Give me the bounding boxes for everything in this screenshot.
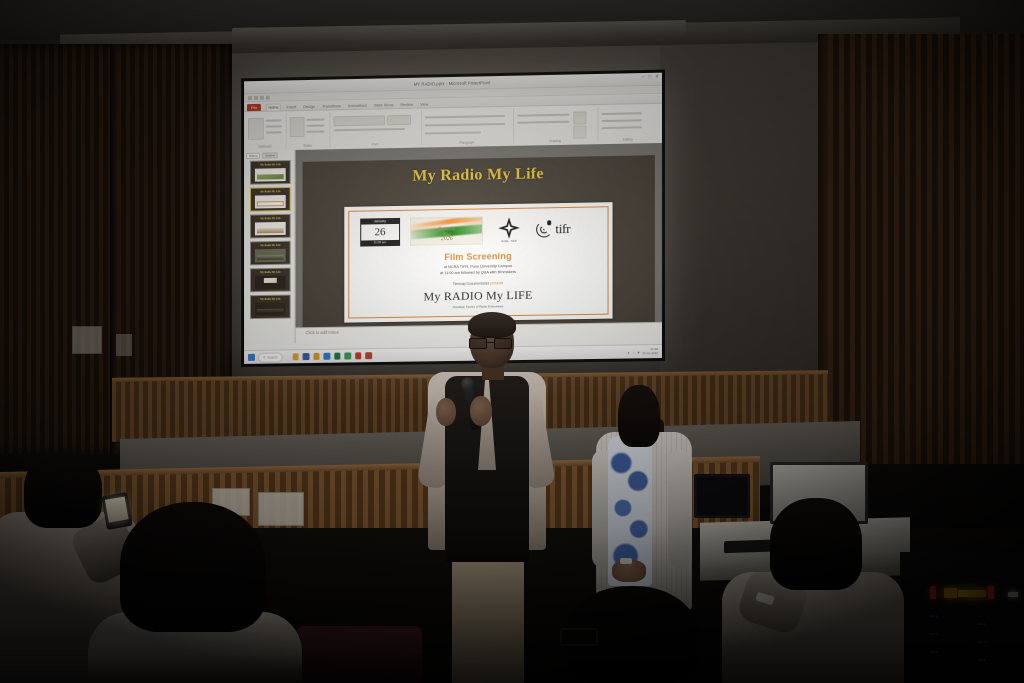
poster-headline: Film Screening (350, 250, 607, 264)
chrome-icon[interactable] (344, 353, 350, 360)
thumbnail-slide-1[interactable]: 1 My Radio My Life (250, 160, 291, 185)
reset-button[interactable] (307, 125, 325, 127)
ribbon-group-font[interactable]: Font (329, 111, 422, 148)
republic-day-year: 2026 (411, 235, 482, 242)
tab-slides[interactable]: Slides (246, 153, 260, 159)
thumbnail-image (257, 201, 284, 206)
mixer-led-amber-1 (944, 588, 957, 598)
eyeglass-lens-right (494, 338, 512, 349)
group-label-font: Font (329, 142, 421, 148)
mixer-channel-label-5: CH 5 (978, 640, 986, 644)
clock-date: 26-01-2026 (642, 351, 657, 355)
layout-button[interactable] (307, 119, 325, 121)
font-size-select[interactable] (387, 115, 411, 125)
shape-outline-button[interactable] (573, 125, 586, 138)
co-presenter-wristwatch (620, 558, 632, 564)
ribbon-group-paragraph[interactable]: Paragraph (421, 109, 514, 146)
star-icon (498, 217, 520, 239)
font-style-buttons[interactable] (333, 128, 405, 131)
close-icon[interactable]: ✕ (655, 75, 659, 80)
start-button-icon[interactable] (248, 354, 255, 361)
presents-word: presents (490, 281, 503, 285)
ribbon-group-editing[interactable]: Editing (597, 106, 657, 142)
date-badge: January 26 11:00 am (360, 218, 400, 247)
media-icon[interactable] (313, 353, 319, 360)
phone-screen (105, 496, 129, 522)
audience-right-head (770, 498, 862, 590)
arrange-button[interactable] (517, 121, 569, 124)
presenter-left-hand (436, 398, 456, 426)
thumbnail-image (257, 309, 284, 314)
audience-center-eyeglasses (560, 628, 598, 646)
group-label-paragraph: Paragraph (421, 140, 513, 146)
auditorium-photo: MY RADIO.pptx - Microsoft PowerPoint – □… (0, 0, 1024, 683)
align-buttons[interactable] (425, 123, 505, 126)
star-inner-icon (504, 223, 514, 234)
ribbon-group-drawing[interactable]: Drawing (513, 107, 598, 144)
thumbnail-title: My Radio My Life (251, 163, 290, 167)
search-placeholder: Search (267, 355, 277, 359)
tifr-arc-icon (535, 220, 554, 239)
minimize-icon[interactable]: – (642, 75, 645, 80)
date-badge-day: 26 (361, 224, 399, 241)
copy-button[interactable] (266, 125, 282, 127)
thumbnail-image (264, 278, 276, 283)
wall-switch-plate (72, 326, 102, 354)
tab-transitions[interactable]: Transitions (321, 103, 342, 109)
poster-time-line: at 11:00 am followed by Q&A with filmmak… (350, 269, 607, 277)
mixer-channel-label-3: CH 3 (930, 650, 938, 654)
thumbnail-title: My Radio My Life (251, 189, 290, 193)
stage-wall-plate-2 (258, 492, 304, 526)
thumbnail-pane-tabs[interactable]: Slides Outline (246, 152, 293, 159)
mixer-led-red-1 (930, 586, 936, 599)
maximize-icon[interactable]: □ (648, 75, 651, 80)
producer-name: Timecap Documentaries (453, 281, 490, 286)
thumbnail-image (257, 255, 284, 260)
current-slide[interactable]: My Radio My Life January 26 11:00 am (303, 155, 655, 332)
powerpoint-window[interactable]: MY RADIO.pptx - Microsoft PowerPoint – □… (244, 73, 662, 364)
audience-phone-head (24, 452, 102, 528)
taskbar-clock[interactable]: 12:08 26-01-2026 (642, 348, 657, 356)
ribbon-group-clipboard[interactable]: Clipboard (244, 113, 287, 149)
customize-qat-icon[interactable] (266, 95, 270, 99)
mobile-phone (101, 492, 133, 530)
volume-icon[interactable]: ♪ (633, 350, 635, 354)
font-family-select[interactable] (333, 115, 385, 126)
thumbnail-canvas (255, 303, 286, 316)
redo-icon[interactable] (260, 95, 264, 99)
republic-day-line1: Republic (438, 227, 456, 232)
tab-slide-show[interactable]: Slide Show (373, 102, 394, 108)
search-icon: ⚲ (263, 355, 265, 359)
tifr-wordmark: tifr (555, 222, 570, 235)
preview-monitor-screen (697, 477, 747, 515)
slide-title: My Radio My Life (303, 163, 655, 188)
thumbnail-slide-4[interactable]: 4 My Radio My Life (250, 241, 291, 266)
cut-button[interactable] (266, 119, 282, 121)
word-icon[interactable] (324, 353, 330, 360)
wall-outlet-plate (116, 334, 132, 356)
slide-thumbnail-pane[interactable]: Slides Outline 1 My Radio My Life 2 My R… (244, 150, 296, 344)
tab-insert[interactable]: Insert (286, 104, 298, 110)
explorer-icon[interactable] (303, 353, 309, 360)
tifr-dot-icon (547, 221, 551, 225)
ribbon-group-slides[interactable]: Slides (286, 112, 331, 148)
tab-home[interactable]: Home (266, 103, 280, 110)
auditorium-chair-center (296, 626, 422, 683)
mixer-channel-label-2: CH 2 (930, 632, 938, 636)
replace-button[interactable] (601, 119, 641, 121)
excel-icon[interactable] (334, 353, 340, 360)
mixer-led-red-2 (988, 586, 994, 599)
poster-presents-line: Timecap Documentaries presents (350, 279, 607, 287)
thumbnail-slide-5[interactable]: 5 My Radio My Life (250, 268, 291, 293)
folder-icon[interactable] (292, 353, 298, 360)
co-presenter-hair (618, 385, 660, 447)
thumbnail-canvas (255, 276, 286, 289)
thumbnail-title: My Radio My Life (251, 297, 290, 301)
save-icon[interactable] (248, 96, 252, 100)
network-icon[interactable]: ▲ (627, 350, 630, 354)
section-button[interactable] (307, 130, 325, 132)
thumbnail-title: My Radio My Life (251, 216, 290, 220)
shape-fill-button[interactable] (573, 111, 586, 124)
thumbnail-slide-6[interactable]: 6 My Radio My Life (250, 295, 291, 320)
select-button[interactable] (601, 126, 641, 128)
thumbnail-canvas (255, 249, 286, 262)
mixer-channel-label-6: CH 6 (978, 658, 986, 662)
poster-logo-row: January 26 11:00 am (360, 212, 597, 248)
ncra-star-logo: NCRA · TIFR (494, 219, 525, 242)
ncra-logo-caption: NCRA · TIFR (501, 240, 516, 243)
paste-button[interactable] (248, 118, 264, 140)
spacing-buttons[interactable] (425, 131, 481, 134)
find-button[interactable] (601, 112, 641, 114)
tifr-logo: tifr (535, 217, 597, 241)
tab-animations[interactable]: Animations (347, 103, 368, 109)
group-label-editing: Editing (597, 137, 657, 142)
undo-icon[interactable] (254, 95, 258, 99)
format-painter-button[interactable] (266, 131, 282, 133)
co-presenter-right-arm (668, 450, 692, 568)
pdf-icon[interactable] (365, 352, 371, 359)
tab-design[interactable]: Design (302, 104, 316, 110)
new-slide-button[interactable] (290, 117, 305, 137)
window-title: MY RADIO.pptx - Microsoft PowerPoint (414, 80, 491, 87)
tab-view[interactable]: View (419, 101, 429, 107)
thumbnail-title: My Radio My Life (251, 270, 290, 274)
thumbnail-canvas (255, 222, 286, 235)
taskbar-app-icons[interactable] (292, 352, 372, 360)
editor-body: Slides Outline 1 My Radio My Life 2 My R… (244, 143, 662, 344)
projection-screen: MY RADIO.pptx - Microsoft PowerPoint – □… (241, 70, 665, 367)
battery-icon[interactable]: ■ (638, 350, 640, 354)
thumbnail-image (257, 174, 284, 179)
date-badge-time: 11:00 am (361, 240, 399, 245)
tab-outline[interactable]: Outline (262, 152, 278, 158)
thumbnail-slide-3[interactable]: 3 My Radio My Life (250, 214, 291, 239)
shapes-gallery[interactable] (517, 114, 569, 117)
presenter-hair (468, 312, 516, 338)
audio-mixer-console[interactable]: CH 1 CH 2 CH 3 CH 4 CH 5 CH 6 (900, 552, 1024, 683)
republic-day-banner: Republic Day 2026 (410, 217, 483, 246)
tab-review[interactable]: Review (399, 102, 414, 108)
list-buttons[interactable] (425, 115, 505, 118)
mixer-led-bar (958, 590, 986, 597)
poster-border: January 26 11:00 am (349, 206, 608, 318)
group-label-clipboard: Clipboard (244, 144, 286, 149)
thumbnail-canvas (255, 195, 286, 208)
powerpoint-icon[interactable] (355, 353, 361, 360)
eyeglass-bridge (485, 342, 494, 343)
taskbar-search-box[interactable]: ⚲ Search (258, 352, 282, 362)
thumbnail-title: My Radio My Life (251, 243, 290, 247)
group-label-drawing: Drawing (513, 138, 597, 144)
thumbnail-slide-2[interactable]: 2 My Radio My Life (250, 187, 291, 212)
presenter-eyeglasses (469, 338, 510, 347)
presenter-right-hand (470, 396, 492, 426)
audience-front-head (120, 502, 266, 632)
mixer-channel-label-1: CH 1 (930, 614, 938, 618)
group-label-slides: Slides (286, 143, 330, 148)
preview-monitor[interactable] (694, 474, 750, 518)
poster-artwork: January 26 11:00 am (345, 202, 612, 323)
tab-file[interactable]: File (247, 104, 261, 111)
mixer-channel-label-4: CH 4 (978, 622, 986, 626)
eyeglass-lens-left (469, 338, 487, 349)
window-controls[interactable]: – □ ✕ (642, 75, 659, 80)
thumbnail-canvas (255, 168, 286, 182)
right-wooden-slat-wall (828, 34, 1024, 464)
thumbnail-image (257, 228, 284, 233)
system-tray[interactable]: ▲ ♪ ■ 12:08 26-01-2026 (627, 348, 658, 356)
mixer-led-white (1008, 592, 1018, 597)
